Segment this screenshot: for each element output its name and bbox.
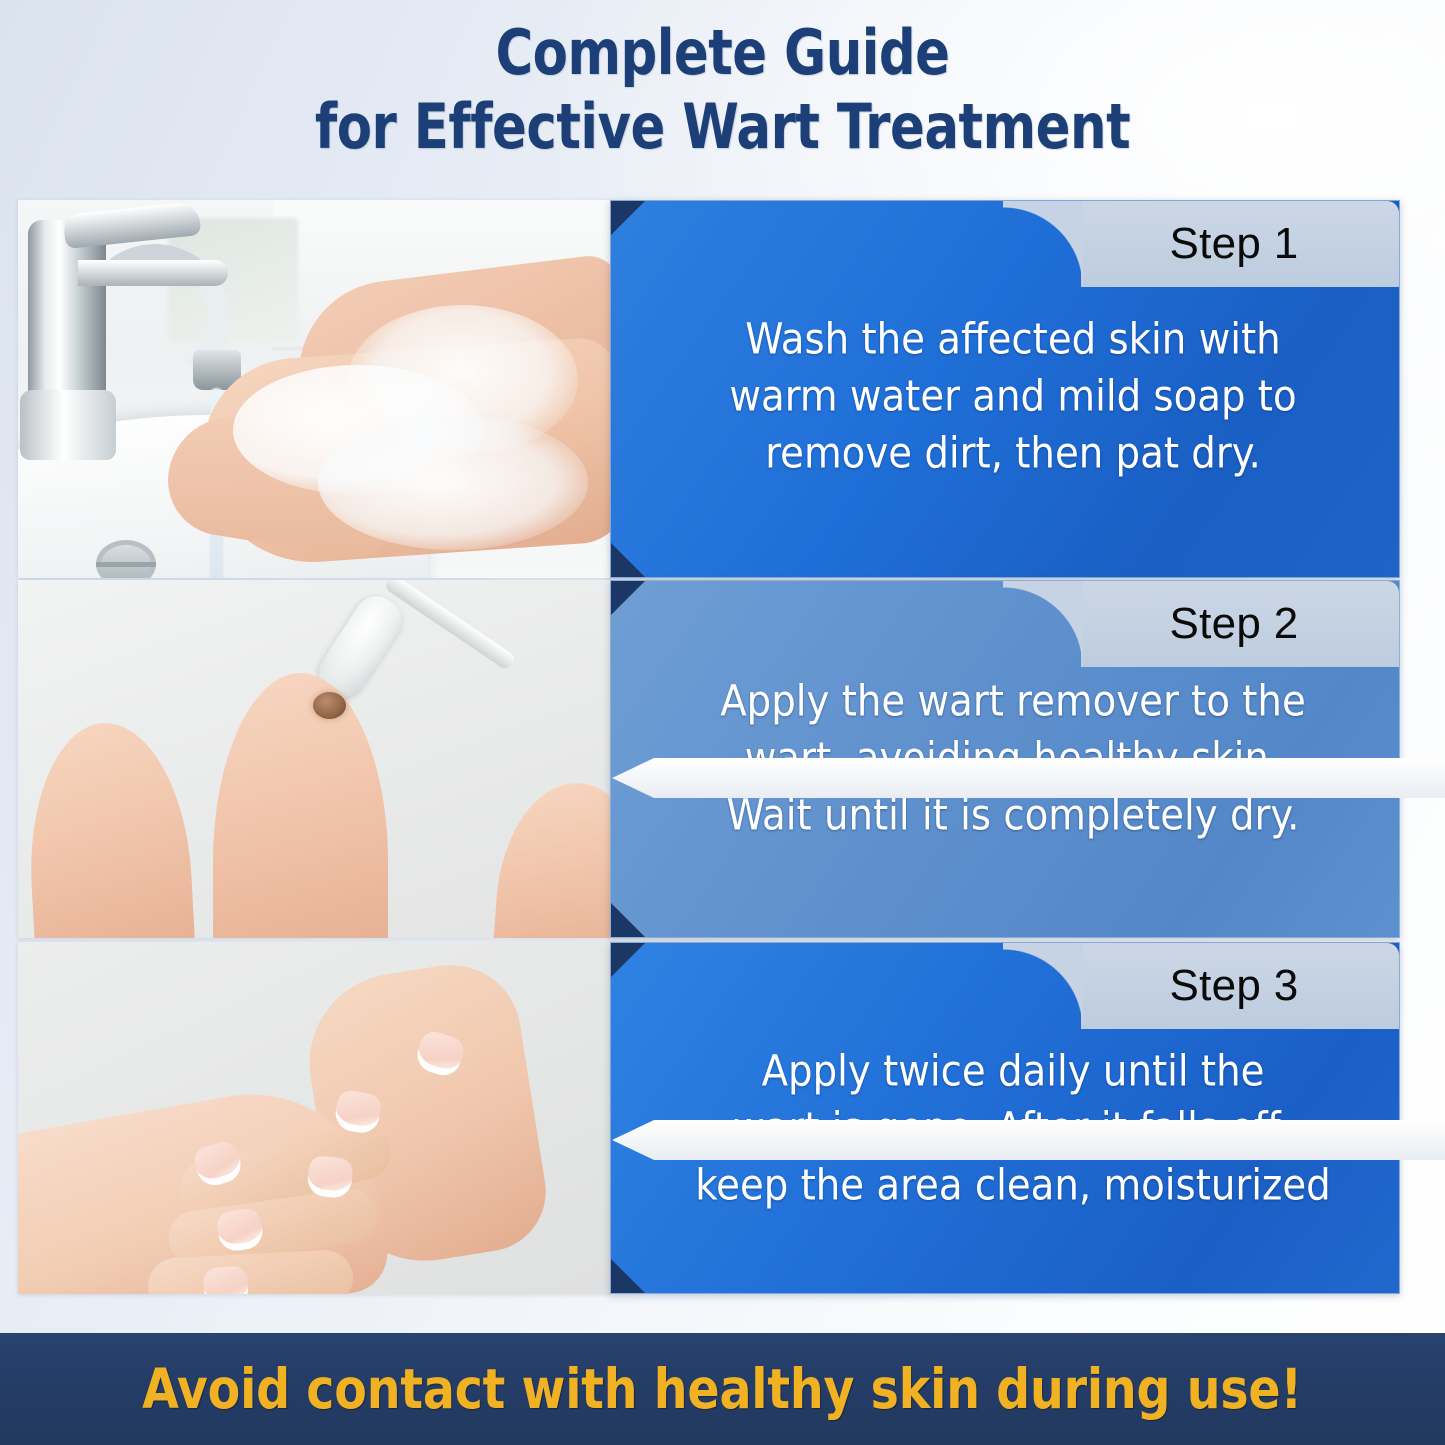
finger-middle bbox=[213, 673, 388, 938]
step-1-text-line-2: warm water and mild soap to bbox=[667, 368, 1359, 425]
ribbon-fold-bottom-icon bbox=[611, 1259, 645, 1293]
step-2-badge: Step 2 bbox=[1081, 581, 1399, 667]
step-3-card: Step 3 Apply twice daily until the wart … bbox=[610, 942, 1400, 1294]
faucet-neck bbox=[78, 260, 228, 286]
badge-notch bbox=[1003, 201, 1083, 287]
ribbon-fold-bottom-icon bbox=[611, 543, 645, 577]
badge-notch bbox=[1003, 943, 1083, 1029]
step-3-text-line-3: keep the area clean, moisturized bbox=[667, 1157, 1359, 1214]
card-separator-1 bbox=[612, 758, 1445, 798]
step-row-3: Step 3 Apply twice daily until the wart … bbox=[0, 942, 1445, 1294]
step-1-text-line-1: Wash the affected skin with bbox=[667, 311, 1359, 368]
hands-washing-under-faucet-photo bbox=[18, 200, 612, 578]
finger-right bbox=[491, 778, 612, 938]
warning-banner: Avoid contact with healthy skin during u… bbox=[0, 1333, 1445, 1445]
page-title-line-1: Complete Guide bbox=[58, 16, 1387, 90]
step-3-badge: Step 3 bbox=[1081, 943, 1399, 1029]
step-3-image bbox=[18, 942, 612, 1294]
step-1-image bbox=[18, 200, 612, 578]
warning-banner-text: Avoid contact with healthy skin during u… bbox=[143, 1357, 1303, 1421]
steps-container: Step 1 Wash the affected skin with warm … bbox=[0, 200, 1445, 1305]
step-1-badge: Step 1 bbox=[1081, 201, 1399, 287]
fingertip-wart-cotton-swab-photo bbox=[18, 580, 612, 938]
step-1-badge-label: Step 1 bbox=[1169, 219, 1298, 269]
step-1-card: Step 1 Wash the affected skin with warm … bbox=[610, 200, 1400, 578]
ribbon-fold-top-icon bbox=[611, 943, 645, 977]
page-title-line-2: for Effective Wart Treatment bbox=[58, 90, 1387, 164]
finger-left bbox=[23, 719, 196, 938]
card-separator-2 bbox=[612, 1120, 1445, 1160]
cotton-swab-stick bbox=[383, 580, 517, 671]
step-1-text-line-3: remove dirt, then pat dry. bbox=[667, 425, 1359, 482]
ribbon-fold-bottom-icon bbox=[611, 903, 645, 937]
step-row-1: Step 1 Wash the affected skin with warm … bbox=[0, 200, 1445, 578]
ribbon-fold-top-icon bbox=[611, 581, 645, 615]
infographic-page: Complete Guide for Effective Wart Treatm… bbox=[0, 0, 1445, 1445]
step-1-card-body: Step 1 Wash the affected skin with warm … bbox=[610, 200, 1400, 578]
step-3-card-body: Step 3 Apply twice daily until the wart … bbox=[610, 942, 1400, 1294]
step-3-badge-label: Step 3 bbox=[1169, 961, 1298, 1011]
ribbon-fold-top-icon bbox=[611, 201, 645, 235]
sink-drain-bar bbox=[96, 562, 156, 567]
badge-notch bbox=[1003, 581, 1083, 667]
soap-suds-lower bbox=[318, 415, 588, 550]
wart-lesion bbox=[313, 692, 346, 719]
step-2-image bbox=[18, 580, 612, 938]
step-3-text-line-1: Apply twice daily until the bbox=[667, 1043, 1359, 1100]
fingernail bbox=[203, 1266, 250, 1294]
step-2-badge-label: Step 2 bbox=[1169, 599, 1298, 649]
faucet-base bbox=[20, 390, 116, 460]
page-title: Complete Guide for Effective Wart Treatm… bbox=[0, 16, 1445, 164]
step-2-text-line-1: Apply the wart remover to the bbox=[667, 674, 1359, 731]
healthy-manicured-hands-photo bbox=[18, 942, 612, 1294]
step-1-text: Wash the affected skin with warm water a… bbox=[667, 311, 1359, 482]
